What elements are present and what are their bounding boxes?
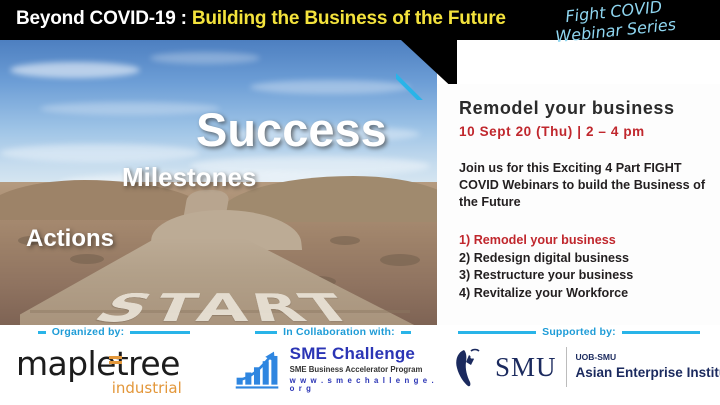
sme-challenge-logo: SME Challenge SME Business Accelerator P…: [234, 345, 438, 392]
rule-right: [130, 331, 190, 334]
smu-institute: Asian Enterprise Institute: [576, 365, 720, 381]
session-list-item: 4) Revitalize your Workforce: [459, 285, 709, 303]
title-part-yellow: Building the Business of the Future: [192, 8, 506, 29]
overlay-text-actions: Actions: [26, 225, 114, 253]
overlay-text-milestones: Milestones: [122, 162, 256, 193]
bar-chart-growth-icon: [234, 346, 283, 392]
organized-by-label-row: Organized by:: [0, 323, 228, 341]
cloud-shape: [0, 144, 200, 162]
rule-left: [38, 331, 46, 334]
collaborator-column: In Collaboration with: SME Challenge SME: [228, 325, 438, 405]
supporter-column: Supported by: SMU UOB-SMU Asian Enterpri…: [438, 325, 720, 405]
logo-divider: [566, 347, 567, 387]
supported-by-label-row: Supported by:: [438, 323, 720, 341]
session-list-item: 1) Remodel your business: [459, 232, 709, 250]
page-title: Beyond COVID-19 : Building the Business …: [16, 8, 506, 30]
smu-text-block: UOB-SMU Asian Enterprise Institute: [576, 353, 720, 380]
rule-left: [458, 331, 536, 334]
sme-tagline: SME Business Accelerator Program: [290, 366, 438, 374]
mapletree-wordmark: mapletree: [16, 347, 180, 381]
header-bar: Beyond COVID-19 : Building the Business …: [0, 0, 720, 40]
collaboration-label: In Collaboration with:: [283, 326, 395, 338]
hero-photo: START Success Milestones Actions: [0, 40, 437, 325]
handwritten-series-label: Fight COVID Webinar Series: [518, 0, 712, 56]
webinar-banner: Beyond COVID-19 : Building the Business …: [0, 0, 720, 405]
sme-website[interactable]: w w w . s m e c h a l l e n g e . o r g: [290, 377, 438, 393]
supported-by-label: Supported by:: [542, 326, 616, 338]
sme-name: SME Challenge: [290, 345, 438, 362]
rule-right: [401, 331, 411, 334]
rule-right: [622, 331, 700, 334]
smu-logo: SMU UOB-SMU Asian Enterprise Institute: [452, 345, 720, 389]
rule-left: [255, 331, 277, 334]
smu-island-mark-icon: [452, 345, 486, 389]
smu-wordmark: SMU: [495, 352, 557, 383]
overlay-text-success: Success: [196, 102, 387, 157]
panel-date-time: 10 Sept 20 (Thu) | 2 – 4 pm: [459, 124, 645, 139]
session-list-item: 2) Redesign digital business: [459, 250, 709, 268]
sme-text-block: SME Challenge SME Business Accelerator P…: [290, 345, 438, 392]
organized-by-label: Organized by:: [52, 326, 125, 338]
details-panel: Remodel your business 10 Sept 20 (Thu) |…: [437, 84, 720, 325]
cloud-shape: [250, 80, 410, 94]
panel-heading: Remodel your business: [459, 98, 675, 119]
panel-description: Join us for this Exciting 4 Part FIGHT C…: [459, 160, 709, 211]
smu-partner: UOB-SMU: [576, 353, 720, 363]
mapletree-logo: mapletree industrial: [16, 347, 180, 381]
organizer-column: Organized by: mapletree industrial: [0, 325, 228, 405]
mapletree-accent-bar: [109, 356, 122, 359]
road-marking-start: START: [48, 288, 408, 325]
session-list-item: 3) Restructure your business: [459, 267, 709, 285]
title-part-white: Beyond COVID-19 :: [16, 8, 192, 29]
cloud-shape: [10, 62, 140, 78]
collaboration-label-row: In Collaboration with:: [228, 323, 438, 341]
session-list: 1) Remodel your business 2) Redesign dig…: [459, 232, 709, 302]
mapletree-accent-bar: [109, 361, 122, 364]
cloud-shape: [40, 102, 220, 115]
cloud-shape: [150, 52, 260, 64]
mapletree-subtitle: industrial: [112, 379, 182, 397]
sponsor-footer: Organized by: mapletree industrial In Co…: [0, 325, 720, 405]
